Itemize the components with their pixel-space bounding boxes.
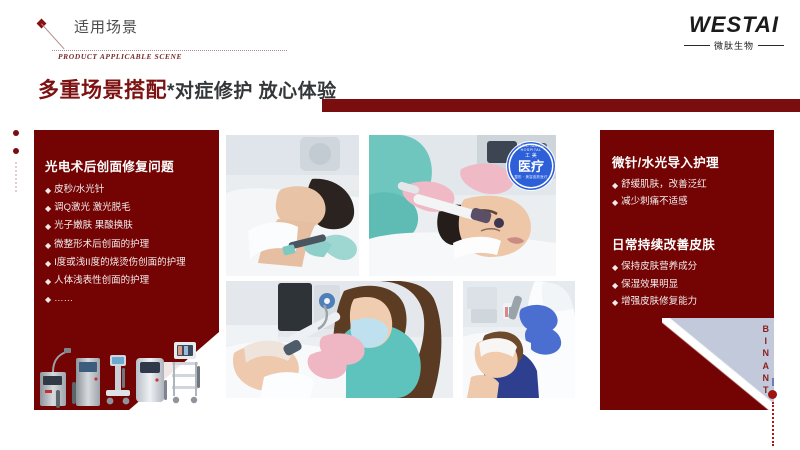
list-item-label: 减少刺痛不适感 [621,197,688,208]
logo-rule-right [758,45,784,46]
bullet-icon: ◆ [45,258,51,269]
edge-dot-lower [13,148,19,154]
brand-logo: WESTAI 微肽生物 [684,14,784,52]
bullet-icon: ◆ [45,221,51,232]
list-item-label: 光子嫩肤 果酸换肤 [54,221,133,232]
list-item: ◆ 舒缓肌肤，改善泛红 [612,180,768,191]
logo-subline: 微肽生物 [684,39,784,52]
list-item: ◆ 光子嫩肤 果酸换肤 [45,221,215,232]
bullet-icon: ◆ [45,276,51,287]
badge-main-text: 医疗 [518,160,544,173]
left-panel-heading: 光电术后创面修复问题 [45,156,215,175]
section-spacer [612,214,768,234]
list-item-label: 微整形术后创面的护理 [54,240,149,251]
right-panel-heading-one: 微针/水光导入护理 [612,152,768,171]
left-panel-body: 光电术后创面修复问题 ◆ 皮秒/水光针 ◆ 调Q激光 激光脱毛 ◆ 光子嫩肤 果… [45,156,215,312]
corner-diagonal-wedge [662,318,774,410]
list-item: ◆ I度或浅II度的烧烫伤创面的护理 [45,258,215,269]
bullet-icon: ◆ [45,294,51,305]
list-item-label: I度或浅II度的烧烫伤创面的护理 [54,258,185,269]
list-item: ◆ 减少刺痛不适感 [612,197,768,208]
list-item: ◆ 调Q激光 激光脱毛 [45,203,215,214]
bullet-icon: ◆ [612,262,618,273]
vertical-watermark-text: B I N A N T [763,323,770,396]
footer-tick-mark [772,378,774,386]
aesthetic-laser-machines-image [34,332,219,410]
photo-skincare-mask-applied [463,281,575,398]
header-dotted-divider [52,50,287,51]
bullet-icon: ◆ [612,280,618,291]
header-kicker: 适用场景 [74,16,138,37]
edge-dot-upper [13,130,19,136]
page-title-rest: *对症修护 放心体验 [167,76,337,103]
list-item-label: 人体浅表性创面的护理 [54,276,149,287]
bullet-icon: ◆ [45,240,51,251]
right-panel-body: 微针/水光导入护理 ◆ 舒缓肌肤，改善泛红 ◆ 减少刺痛不适感 日常持续改善皮肤… [612,152,768,314]
list-item: ◆ 保湿效果明显 [612,280,768,291]
list-item-label: 保持皮肤营养成分 [621,262,697,273]
list-item-label: 调Q激光 激光脱毛 [54,203,131,214]
badge-top-text: 工 美 [525,152,537,159]
footer-dot-marker [768,390,777,399]
list-item: ◆ 保持皮肤营养成分 [612,262,768,273]
edge-dotted-line [15,162,17,192]
list-item: ◆ 增强皮肤修复能力 [612,297,768,308]
medical-certification-badge: PLASTIC SURGERY HOSPITAL 工 美 医疗 整形 · 美容皮… [506,141,556,191]
title-underline-bar [322,99,800,112]
photo-microneedling-session [226,281,453,398]
list-item-label: 增强皮肤修复能力 [621,297,697,308]
page-title: 多重场景搭配 *对症修护 放心体验 [38,74,337,104]
left-content-panel: 光电术后创面修复问题 ◆ 皮秒/水光针 ◆ 调Q激光 激光脱毛 ◆ 光子嫩肤 果… [34,130,219,410]
page-title-accent: 多重场景搭配 [38,74,167,104]
slide-canvas: 适用场景 PRODUCT APPLICABLE SCENE WESTAI 微肽生… [0,0,800,450]
right-content-panel: 微针/水光导入护理 ◆ 舒缓肌肤，改善泛红 ◆ 减少刺痛不适感 日常持续改善皮肤… [600,130,774,410]
list-item-label: 舒缓肌肤，改善泛红 [621,180,707,191]
logo-rule-left [684,45,710,46]
bullet-icon: ◆ [45,185,51,196]
list-item-label: 保湿效果明显 [621,280,678,291]
list-item: ◆ 皮秒/水光针 [45,185,215,196]
list-item-label: 皮秒/水光针 [54,185,104,196]
bullet-icon: ◆ [612,297,618,308]
header-subtitle-en: PRODUCT APPLICABLE SCENE [58,52,182,61]
logo-chinese-name: 微肽生物 [714,39,754,52]
bullet-icon: ◆ [45,203,51,214]
list-item: ◆ …… [45,294,215,305]
badge-bottom-text: 整形 · 美容皮肤医疗 [514,175,547,180]
bullet-icon: ◆ [612,180,618,191]
footer-dotted-line [772,402,774,446]
bullet-icon: ◆ [612,197,618,208]
photo-laser-neck-treatment [226,135,359,276]
list-item: ◆ 微整形术后创面的护理 [45,240,215,251]
list-item-label: …… [54,294,73,305]
right-panel-heading-two: 日常持续改善皮肤 [612,234,768,253]
badge-arc-text: PLASTIC SURGERY HOSPITAL [507,144,555,152]
logo-wordmark: WESTAI [684,14,784,36]
list-item: ◆ 人体浅表性创面的护理 [45,276,215,287]
